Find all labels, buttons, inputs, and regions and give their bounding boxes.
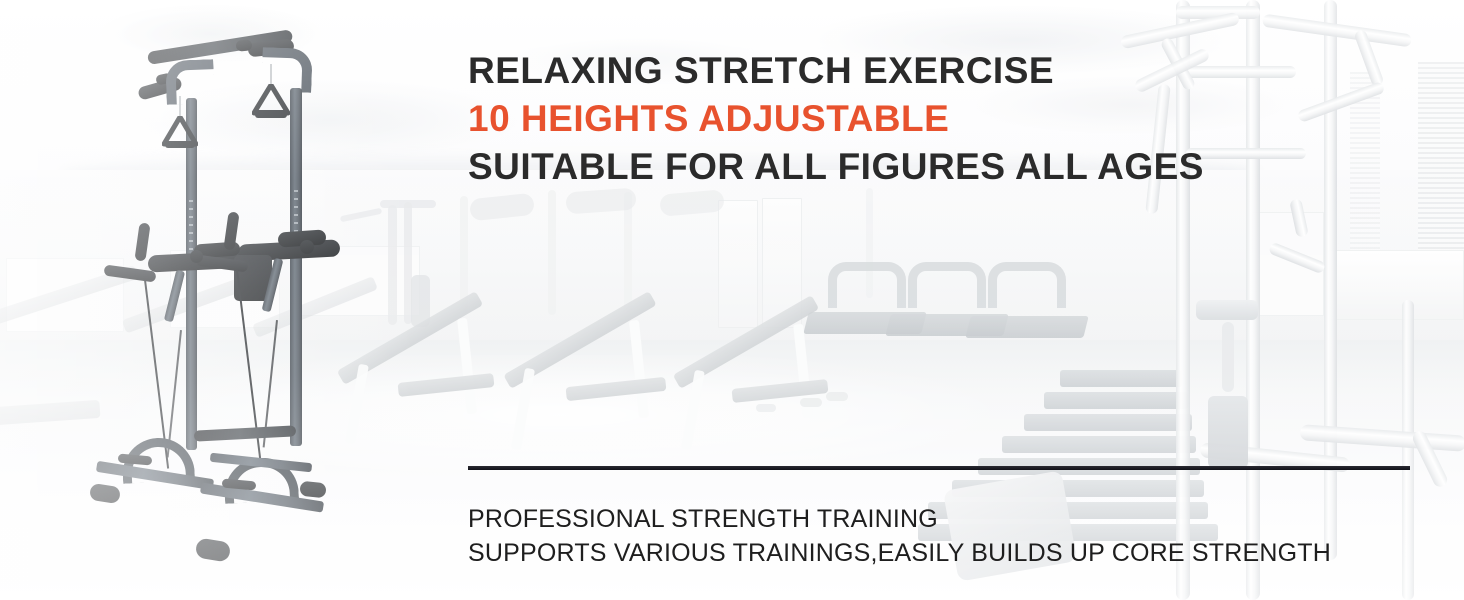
grip-triangle [162,116,198,150]
adjust-knob[interactable] [300,240,314,254]
foot-cap-left [89,483,121,504]
headline-line-3: SUITABLE FOR ALL FIGURES ALL AGES [468,148,1204,185]
resistance-cable [167,330,182,458]
stabilizer-grip-left [118,454,153,466]
headline-line-2-accent: 10 HEIGHTS ADJUSTABLE [468,100,1204,137]
grip-strap [179,96,181,118]
product-banner: RELAXING STRETCH EXERCISE 10 HEIGHTS ADJ… [0,0,1464,600]
hanging-grip-left[interactable] [162,96,198,158]
lower-crossbar [194,425,296,441]
vertical-post-right [290,88,302,446]
subcopy-block: PROFESSIONAL STRENGTH TRAINING SUPPORTS … [468,503,1331,570]
subcopy-line-2: SUPPORTS VARIOUS TRAININGS,EASILY BUILDS… [468,537,1331,571]
vertical-grip-left [134,222,150,261]
height-adjust-holes-left [189,200,193,258]
headline-line-1: RELAXING STRETCH EXERCISE [468,52,1204,89]
adjust-knob[interactable] [190,250,203,263]
grip-strap [270,64,272,86]
grip-triangle [252,84,290,118]
horizontal-divider [468,466,1410,470]
headline-block: RELAXING STRETCH EXERCISE 10 HEIGHTS ADJ… [468,52,1204,185]
subcopy-line-1: PROFESSIONAL STRENGTH TRAINING [468,503,1331,537]
foot-cap-right [195,537,232,562]
support-strut-left [164,270,185,323]
hanging-grip-right[interactable] [252,64,290,128]
foot-cap-back [299,481,326,499]
